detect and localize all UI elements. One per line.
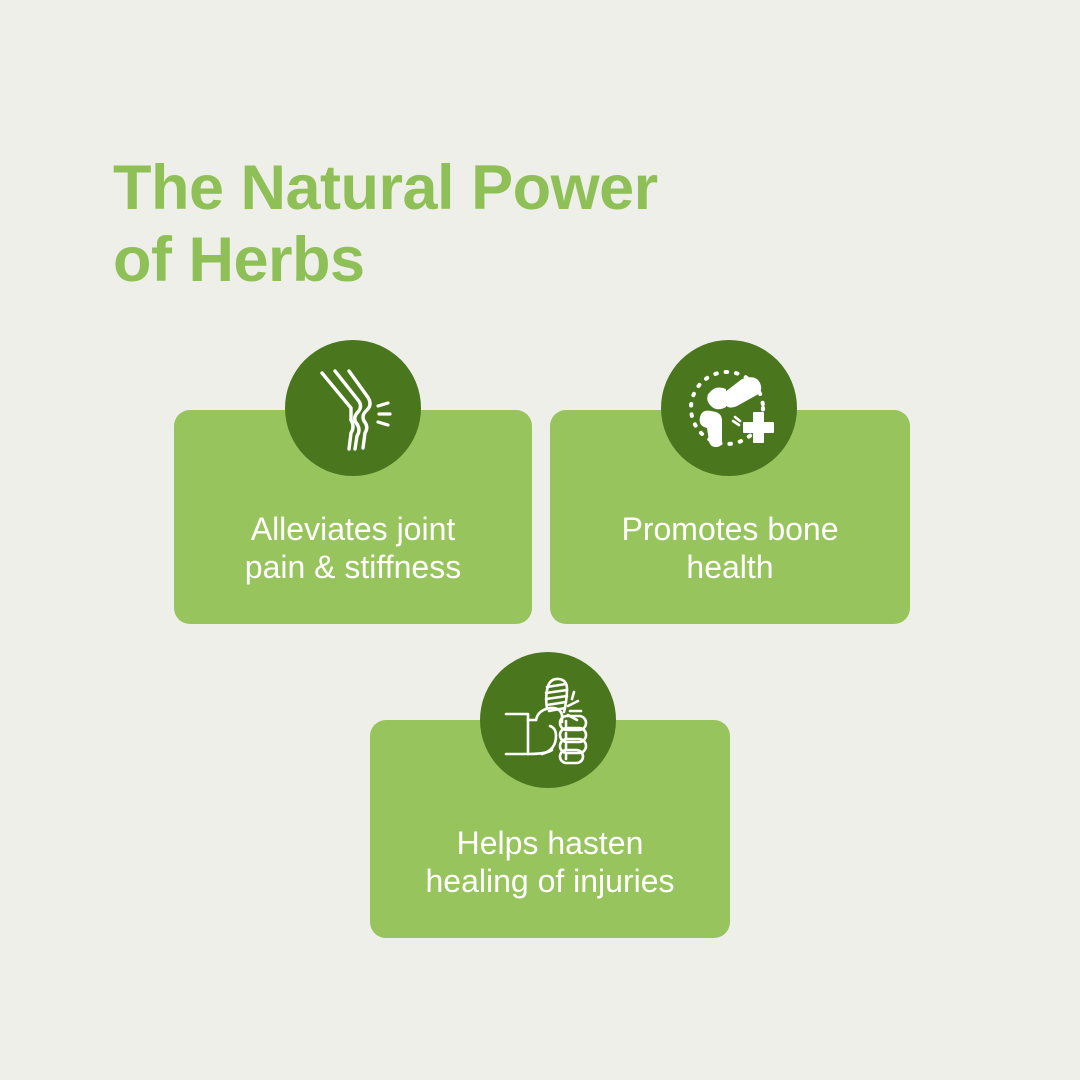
knee-joint-pain-icon: [285, 340, 421, 476]
pain-lines: [378, 403, 390, 425]
fingers: [560, 716, 586, 763]
infographic-poster: The Natural Power of Herbs Alleviates jo…: [0, 0, 1080, 1080]
benefit-card-label: Alleviates joint pain & stiffness: [174, 510, 532, 586]
bone-shape-lower: [700, 411, 722, 447]
bone-shape-upper: [707, 377, 761, 409]
page-title-line-2: of Herbs: [113, 224, 753, 296]
benefit-card-label: Helps hasten healing of injuries: [370, 824, 730, 900]
page-title-line-1: The Natural Power: [113, 152, 753, 224]
bandaged-hand-icon: [480, 652, 616, 788]
page-title: The Natural Power of Herbs: [113, 152, 753, 296]
benefit-card-label: Promotes bone health: [550, 510, 910, 586]
plus-icon: [743, 412, 774, 443]
bone-health-plus-icon: [661, 340, 797, 476]
